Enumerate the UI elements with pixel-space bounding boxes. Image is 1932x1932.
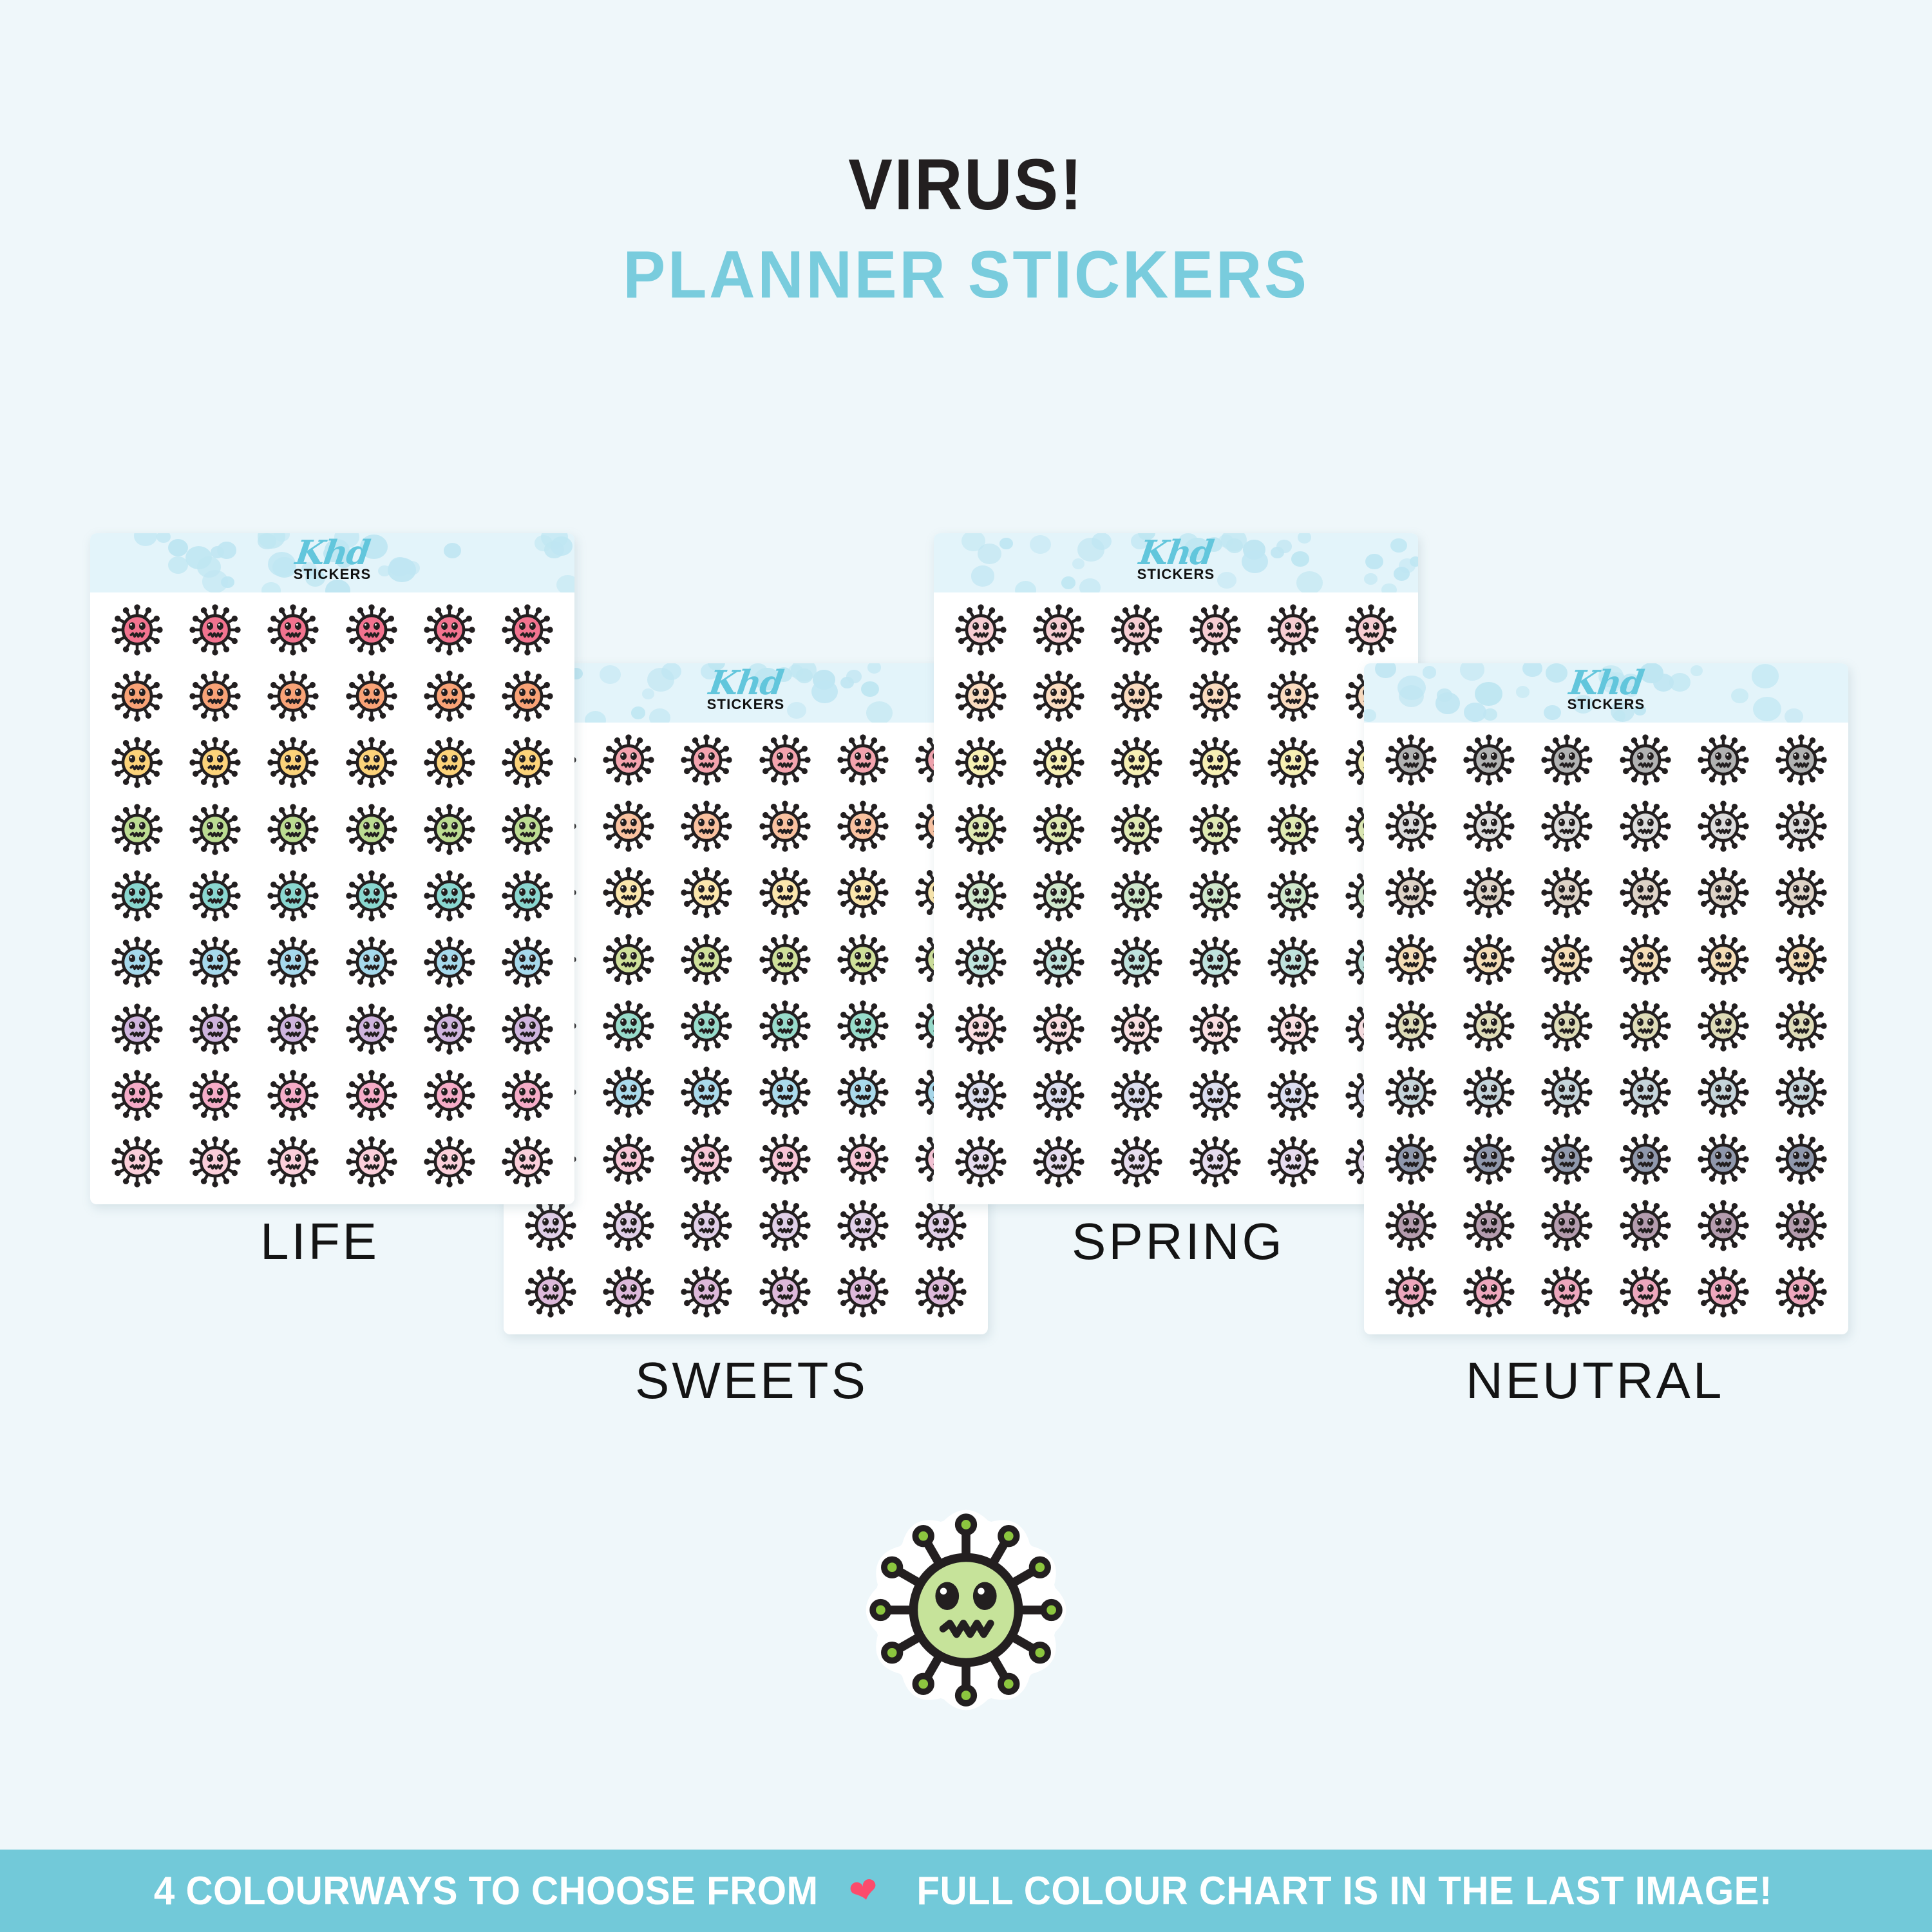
sticker-item[interactable] bbox=[824, 1259, 902, 1325]
sticker-item[interactable] bbox=[489, 596, 567, 663]
sticker-item[interactable] bbox=[1684, 1126, 1762, 1192]
sticker-item[interactable] bbox=[1254, 1129, 1332, 1195]
sticker-item[interactable] bbox=[1176, 796, 1254, 862]
sticker-item[interactable] bbox=[1372, 926, 1450, 992]
sticker-sheet-life[interactable]: Khd STICKERS bbox=[90, 533, 574, 1204]
sticker-item[interactable] bbox=[1684, 1192, 1762, 1258]
sticker-item[interactable] bbox=[668, 1126, 746, 1192]
sticker-item[interactable] bbox=[511, 1259, 589, 1325]
sticker-item[interactable] bbox=[1684, 1259, 1762, 1325]
sticker-item[interactable] bbox=[1176, 1129, 1254, 1195]
sticker-item[interactable] bbox=[410, 796, 488, 862]
sticker-item[interactable] bbox=[1450, 1259, 1528, 1325]
sticker-item[interactable] bbox=[1528, 1259, 1606, 1325]
sticker-item[interactable] bbox=[98, 862, 176, 929]
sticker-item[interactable] bbox=[332, 663, 410, 729]
sticker-grid-life bbox=[90, 592, 574, 1204]
brand-script-text: Khd bbox=[934, 537, 1418, 569]
sticker-item[interactable] bbox=[1606, 726, 1684, 793]
sticker-item[interactable] bbox=[176, 796, 254, 862]
sticker-item[interactable] bbox=[1019, 1129, 1097, 1195]
sticker-item[interactable] bbox=[1176, 996, 1254, 1062]
sticker-item[interactable] bbox=[1019, 596, 1097, 663]
sticker-item[interactable] bbox=[1019, 796, 1097, 862]
sticker-item[interactable] bbox=[942, 663, 1019, 729]
sticker-item[interactable] bbox=[824, 1126, 902, 1192]
sticker-item[interactable] bbox=[746, 793, 824, 859]
sheet-header-life: Khd STICKERS bbox=[90, 533, 574, 592]
sheet-header-spring: Khd STICKERS bbox=[934, 533, 1418, 592]
sticker-item[interactable] bbox=[1254, 730, 1332, 796]
sticker-item[interactable] bbox=[746, 726, 824, 793]
sticker-item[interactable] bbox=[589, 793, 667, 859]
sticker-item[interactable] bbox=[1254, 1062, 1332, 1128]
sticker-item[interactable] bbox=[1606, 1259, 1684, 1325]
sticker-item[interactable] bbox=[668, 793, 746, 859]
sticker-item[interactable] bbox=[824, 860, 902, 926]
sticker-item[interactable] bbox=[1528, 793, 1606, 859]
sticker-item[interactable] bbox=[1372, 1059, 1450, 1126]
sticker-item[interactable] bbox=[942, 862, 1019, 929]
sticker-item[interactable] bbox=[589, 926, 667, 992]
brand-logo: Khd STICKERS bbox=[934, 537, 1418, 583]
sticker-item[interactable] bbox=[176, 996, 254, 1062]
sticker-item[interactable] bbox=[1606, 1126, 1684, 1192]
sticker-item[interactable] bbox=[1450, 926, 1528, 992]
bottom-banner: 4 COLOURWAYS TO CHOOSE FROM ❤ FULL COLOU… bbox=[0, 1850, 1932, 1932]
sticker-item[interactable] bbox=[1606, 1059, 1684, 1126]
sticker-item[interactable] bbox=[589, 1259, 667, 1325]
sticker-item[interactable] bbox=[824, 992, 902, 1059]
sheet-header-neutral: Khd STICKERS bbox=[1364, 663, 1848, 723]
sticker-grid-sweets bbox=[504, 723, 988, 1334]
sticker-item[interactable] bbox=[746, 1259, 824, 1325]
sticker-item[interactable] bbox=[332, 996, 410, 1062]
sticker-item[interactable] bbox=[332, 1062, 410, 1128]
page-subtitle: PLANNER STICKERS bbox=[48, 233, 1884, 317]
sticker-item[interactable] bbox=[332, 1129, 410, 1195]
sticker-item[interactable] bbox=[98, 996, 176, 1062]
sticker-item[interactable] bbox=[176, 663, 254, 729]
sticker-item[interactable] bbox=[1606, 992, 1684, 1059]
sticker-item[interactable] bbox=[1684, 992, 1762, 1059]
sticker-item[interactable] bbox=[1763, 860, 1841, 926]
sticker-item[interactable] bbox=[410, 862, 488, 929]
brand-script-text: Khd bbox=[504, 667, 988, 699]
sticker-item[interactable] bbox=[489, 730, 567, 796]
sticker-item[interactable] bbox=[668, 726, 746, 793]
sticker-item[interactable] bbox=[489, 862, 567, 929]
sticker-item[interactable] bbox=[254, 796, 332, 862]
sticker-grid-spring bbox=[934, 592, 1418, 1204]
sticker-item[interactable] bbox=[1372, 860, 1450, 926]
sheet-header-sweets: Khd STICKERS bbox=[504, 663, 988, 723]
sheet-label-neutral: NEUTRAL bbox=[1466, 1351, 1724, 1410]
sticker-item[interactable] bbox=[589, 992, 667, 1059]
sticker-item[interactable] bbox=[1684, 926, 1762, 992]
sticker-item[interactable] bbox=[1098, 929, 1176, 996]
sticker-item[interactable] bbox=[1098, 862, 1176, 929]
sticker-item[interactable] bbox=[489, 929, 567, 996]
sticker-item[interactable] bbox=[176, 862, 254, 929]
sticker-item[interactable] bbox=[254, 1129, 332, 1195]
brand-logo: Khd STICKERS bbox=[504, 667, 988, 713]
sticker-item[interactable] bbox=[1176, 862, 1254, 929]
sticker-item[interactable] bbox=[1372, 1126, 1450, 1192]
sticker-item[interactable] bbox=[1684, 1059, 1762, 1126]
sticker-item[interactable] bbox=[254, 1062, 332, 1128]
sticker-item[interactable] bbox=[1176, 663, 1254, 729]
sticker-item[interactable] bbox=[746, 1192, 824, 1258]
decorative-dot bbox=[1381, 583, 1396, 592]
sticker-item[interactable] bbox=[668, 926, 746, 992]
sticker-item[interactable] bbox=[489, 1129, 567, 1195]
sticker-item[interactable] bbox=[254, 929, 332, 996]
sticker-item[interactable] bbox=[942, 929, 1019, 996]
sticker-item[interactable] bbox=[98, 730, 176, 796]
sticker-sheet-sweets[interactable]: Khd STICKERS bbox=[504, 663, 988, 1334]
sticker-item[interactable] bbox=[1528, 1059, 1606, 1126]
sticker-item[interactable] bbox=[589, 860, 667, 926]
sticker-item[interactable] bbox=[1528, 926, 1606, 992]
sticker-item[interactable] bbox=[1176, 1062, 1254, 1128]
sticker-item[interactable] bbox=[1763, 726, 1841, 793]
sticker-item[interactable] bbox=[942, 996, 1019, 1062]
brand-logo: Khd STICKERS bbox=[90, 537, 574, 583]
sticker-item[interactable] bbox=[176, 596, 254, 663]
decorative-dot bbox=[261, 582, 280, 592]
sticker-item[interactable] bbox=[1019, 996, 1097, 1062]
sticker-item[interactable] bbox=[942, 796, 1019, 862]
sticker-sheet-spring[interactable]: Khd STICKERS bbox=[934, 533, 1418, 1204]
brand-logo: Khd STICKERS bbox=[1364, 667, 1848, 713]
sticker-grid-neutral bbox=[1364, 723, 1848, 1334]
sticker-item[interactable] bbox=[410, 996, 488, 1062]
sticker-item[interactable] bbox=[1098, 730, 1176, 796]
sticker-item[interactable] bbox=[98, 1129, 176, 1195]
sticker-item[interactable] bbox=[824, 1192, 902, 1258]
sticker-item[interactable] bbox=[1254, 862, 1332, 929]
sticker-item[interactable] bbox=[254, 862, 332, 929]
sticker-item[interactable] bbox=[1332, 596, 1410, 663]
sticker-item[interactable] bbox=[1528, 1192, 1606, 1258]
sticker-item[interactable] bbox=[176, 1062, 254, 1128]
sticker-item[interactable] bbox=[1606, 926, 1684, 992]
sticker-item[interactable] bbox=[1372, 793, 1450, 859]
sticker-item[interactable] bbox=[1372, 726, 1450, 793]
sticker-item[interactable] bbox=[410, 1062, 488, 1128]
sticker-item[interactable] bbox=[1528, 1126, 1606, 1192]
sticker-item[interactable] bbox=[1019, 730, 1097, 796]
heart-icon: ❤ bbox=[846, 1868, 884, 1914]
page-title-block: VIRUS! PLANNER STICKERS bbox=[0, 147, 1932, 317]
sticker-item[interactable] bbox=[1606, 793, 1684, 859]
sticker-item[interactable] bbox=[1606, 1192, 1684, 1258]
sheet-label-life: LIFE bbox=[260, 1212, 379, 1271]
sticker-item[interactable] bbox=[1763, 1259, 1841, 1325]
sticker-item[interactable] bbox=[824, 1059, 902, 1126]
sticker-item[interactable] bbox=[410, 730, 488, 796]
sticker-item[interactable] bbox=[1254, 596, 1332, 663]
sticker-item[interactable] bbox=[746, 860, 824, 926]
sticker-item[interactable] bbox=[98, 1062, 176, 1128]
brand-script-text: Khd bbox=[90, 537, 574, 569]
sticker-item[interactable] bbox=[1450, 726, 1528, 793]
sticker-item[interactable] bbox=[589, 726, 667, 793]
sticker-item[interactable] bbox=[1763, 1059, 1841, 1126]
sticker-item[interactable] bbox=[332, 929, 410, 996]
sticker-item[interactable] bbox=[942, 1129, 1019, 1195]
sticker-item[interactable] bbox=[254, 663, 332, 729]
sticker-item[interactable] bbox=[746, 926, 824, 992]
sticker-item[interactable] bbox=[410, 663, 488, 729]
sticker-item[interactable] bbox=[1528, 726, 1606, 793]
sticker-item[interactable] bbox=[332, 596, 410, 663]
sticker-item[interactable] bbox=[1098, 1129, 1176, 1195]
sticker-item[interactable] bbox=[332, 796, 410, 862]
sticker-item[interactable] bbox=[410, 1129, 488, 1195]
sticker-item[interactable] bbox=[589, 1126, 667, 1192]
sticker-item[interactable] bbox=[1176, 730, 1254, 796]
banner-text-left: 4 COLOURWAYS TO CHOOSE FROM bbox=[154, 1868, 819, 1914]
virus-icon-large bbox=[857, 1501, 1075, 1719]
sticker-item[interactable] bbox=[254, 996, 332, 1062]
sticker-item[interactable] bbox=[1450, 860, 1528, 926]
sticker-item[interactable] bbox=[489, 1062, 567, 1128]
sticker-item[interactable] bbox=[410, 929, 488, 996]
sticker-item[interactable] bbox=[176, 1129, 254, 1195]
sticker-item[interactable] bbox=[410, 596, 488, 663]
sheet-label-spring: SPRING bbox=[1072, 1212, 1285, 1271]
sticker-item[interactable] bbox=[942, 1062, 1019, 1128]
sticker-item[interactable] bbox=[1528, 860, 1606, 926]
sticker-item[interactable] bbox=[489, 663, 567, 729]
sticker-item[interactable] bbox=[1372, 992, 1450, 1059]
sheet-label-sweets: SWEETS bbox=[635, 1351, 868, 1410]
sticker-item[interactable] bbox=[1450, 1126, 1528, 1192]
sticker-item[interactable] bbox=[1763, 992, 1841, 1059]
sticker-item[interactable] bbox=[1528, 992, 1606, 1059]
sticker-item[interactable] bbox=[1019, 663, 1097, 729]
sticker-item[interactable] bbox=[746, 1059, 824, 1126]
sticker-item[interactable] bbox=[1019, 862, 1097, 929]
sticker-item[interactable] bbox=[589, 1192, 667, 1258]
sticker-item[interactable] bbox=[1098, 996, 1176, 1062]
sticker-item[interactable] bbox=[746, 1126, 824, 1192]
sticker-item[interactable] bbox=[176, 929, 254, 996]
sticker-item[interactable] bbox=[942, 730, 1019, 796]
sticker-item[interactable] bbox=[668, 1259, 746, 1325]
sticker-item[interactable] bbox=[1684, 793, 1762, 859]
sticker-item[interactable] bbox=[1372, 1259, 1450, 1325]
sticker-item[interactable] bbox=[98, 663, 176, 729]
sticker-item[interactable] bbox=[1019, 1062, 1097, 1128]
sticker-item[interactable] bbox=[1684, 726, 1762, 793]
sticker-item[interactable] bbox=[824, 926, 902, 992]
sticker-item[interactable] bbox=[98, 929, 176, 996]
sticker-item[interactable] bbox=[668, 992, 746, 1059]
sticker-item[interactable] bbox=[1098, 663, 1176, 729]
page-title: VIRUS! bbox=[77, 147, 1855, 223]
brand-script-text: Khd bbox=[1364, 667, 1848, 699]
sticker-item[interactable] bbox=[176, 730, 254, 796]
sticker-item[interactable] bbox=[589, 1059, 667, 1126]
sticker-item[interactable] bbox=[824, 726, 902, 793]
sticker-item[interactable] bbox=[824, 793, 902, 859]
sticker-item[interactable] bbox=[902, 1259, 980, 1325]
sticker-item[interactable] bbox=[489, 996, 567, 1062]
sticker-item[interactable] bbox=[1098, 796, 1176, 862]
sticker-item[interactable] bbox=[746, 992, 824, 1059]
sticker-item[interactable] bbox=[489, 796, 567, 862]
sticker-item[interactable] bbox=[1098, 596, 1176, 663]
sticker-sheet-neutral[interactable]: Khd STICKERS bbox=[1364, 663, 1848, 1334]
sticker-item[interactable] bbox=[1019, 929, 1097, 996]
banner-text-right: FULL COLOUR CHART IS IN THE LAST IMAGE! bbox=[916, 1868, 1772, 1914]
sticker-item[interactable] bbox=[1176, 929, 1254, 996]
sticker-item[interactable] bbox=[942, 596, 1019, 663]
sticker-item[interactable] bbox=[1450, 793, 1528, 859]
sticker-item[interactable] bbox=[1684, 860, 1762, 926]
sticker-item[interactable] bbox=[668, 1059, 746, 1126]
sticker-item[interactable] bbox=[1254, 929, 1332, 996]
sticker-item[interactable] bbox=[1606, 860, 1684, 926]
sticker-item[interactable] bbox=[98, 796, 176, 862]
sticker-item[interactable] bbox=[1763, 793, 1841, 859]
sticker-item[interactable] bbox=[254, 596, 332, 663]
sticker-item[interactable] bbox=[1763, 1192, 1841, 1258]
sticker-item[interactable] bbox=[1763, 926, 1841, 992]
sticker-item[interactable] bbox=[332, 862, 410, 929]
sticker-item[interactable] bbox=[1450, 992, 1528, 1059]
sticker-item[interactable] bbox=[1098, 1062, 1176, 1128]
sticker-item[interactable] bbox=[254, 730, 332, 796]
sticker-item[interactable] bbox=[668, 860, 746, 926]
sticker-item[interactable] bbox=[1450, 1192, 1528, 1258]
sticker-item[interactable] bbox=[1450, 1059, 1528, 1126]
sticker-item[interactable] bbox=[668, 1192, 746, 1258]
sticker-item[interactable] bbox=[1372, 1192, 1450, 1258]
sticker-item[interactable] bbox=[1254, 796, 1332, 862]
sticker-item[interactable] bbox=[1254, 996, 1332, 1062]
sticker-item[interactable] bbox=[332, 730, 410, 796]
sticker-item[interactable] bbox=[1763, 1126, 1841, 1192]
sticker-item[interactable] bbox=[1254, 663, 1332, 729]
sticker-item[interactable] bbox=[1176, 596, 1254, 663]
sticker-item[interactable] bbox=[98, 596, 176, 663]
